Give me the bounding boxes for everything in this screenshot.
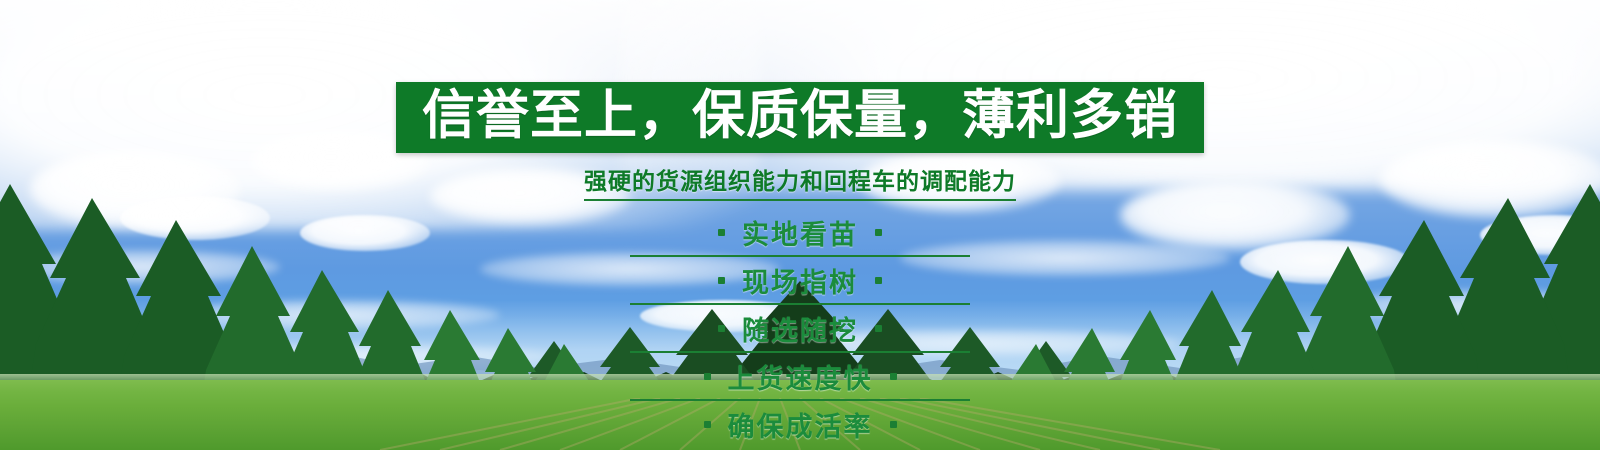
bullet-dot-icon <box>704 421 711 428</box>
feature-label: 随选随挖 <box>742 309 858 348</box>
bullet-dot-icon <box>890 421 897 428</box>
feature-item: 实地看苗 <box>630 209 970 255</box>
bullet-dot-icon <box>718 229 725 236</box>
bullet-dot-icon <box>875 277 882 284</box>
feature-list: 实地看苗 现场指树 随选随挖 上货速度快 确保成活率 <box>630 209 970 447</box>
promo-banner: 信誉至上，保质保量，薄利多销 强硬的货源组织能力和回程车的调配能力 实地看苗 现… <box>0 0 1600 450</box>
feature-item: 随选随挖 <box>630 303 970 351</box>
headline-text: 信誉至上，保质保量，薄利多销 <box>422 88 1178 143</box>
headline-bar: 信誉至上，保质保量，薄利多销 <box>396 82 1204 153</box>
feature-item: 确保成活率 <box>630 399 970 447</box>
bullet-dot-icon <box>718 277 725 284</box>
feature-label: 现场指树 <box>742 261 858 300</box>
bullet-dot-icon <box>875 229 882 236</box>
feature-item: 现场指树 <box>630 255 970 303</box>
bullet-dot-icon <box>718 325 725 332</box>
banner-content: 信誉至上，保质保量，薄利多销 强硬的货源组织能力和回程车的调配能力 实地看苗 现… <box>0 0 1600 447</box>
feature-label: 确保成活率 <box>728 405 873 444</box>
bullet-dot-icon <box>875 325 882 332</box>
bullet-dot-icon <box>704 373 711 380</box>
bullet-dot-icon <box>890 373 897 380</box>
subtitle-text: 强硬的货源组织能力和回程车的调配能力 <box>584 162 1016 201</box>
feature-label: 上货速度快 <box>728 357 873 396</box>
feature-item: 上货速度快 <box>630 351 970 399</box>
feature-label: 实地看苗 <box>742 213 858 252</box>
